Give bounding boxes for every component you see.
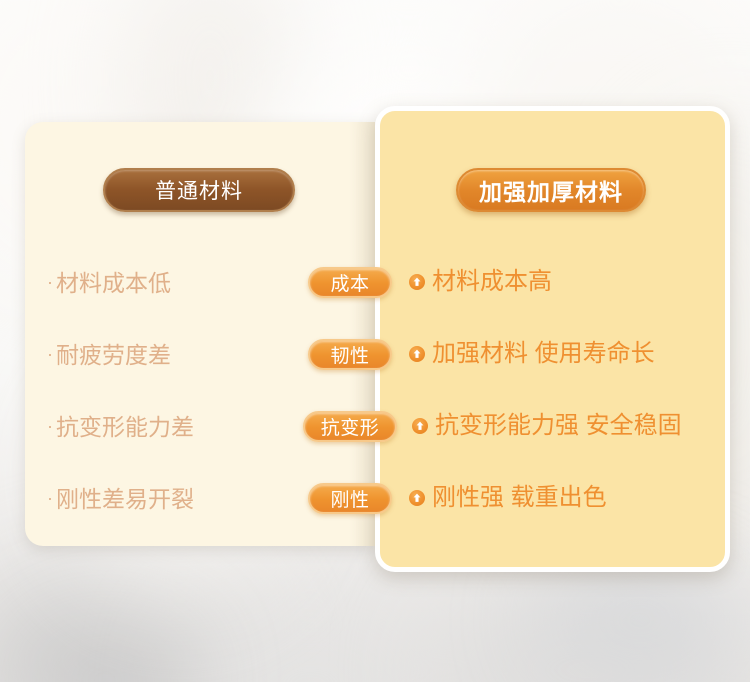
bullet-icon: · bbox=[47, 272, 53, 292]
bullet-icon: · bbox=[47, 416, 53, 436]
comparison-row: ·刚性差易开裂 刚性 刚性强 载重出色 bbox=[0, 478, 750, 518]
arrow-up-circle-icon bbox=[409, 274, 425, 290]
basic-item-text: ·抗变形能力差 bbox=[47, 406, 194, 446]
premium-item-label: 抗变形能力强 安全稳固 bbox=[435, 406, 682, 446]
premium-item-label: 刚性强 载重出色 bbox=[432, 478, 607, 518]
comparison-row: ·抗变形能力差 抗变形 抗变形能力强 安全稳固 bbox=[0, 406, 750, 446]
premium-material-badge: 加强加厚材料 bbox=[456, 168, 646, 212]
basic-item-label: 材料成本低 bbox=[56, 270, 171, 296]
premium-item-label: 材料成本高 bbox=[432, 262, 552, 302]
basic-material-badge: 普通材料 bbox=[103, 168, 295, 212]
comparison-tag-label: 刚性 bbox=[330, 485, 369, 512]
premium-item-label: 加强材料 使用寿命长 bbox=[432, 334, 655, 374]
basic-item-text: ·刚性差易开裂 bbox=[47, 478, 194, 518]
premium-material-badge-label: 加强加厚材料 bbox=[479, 173, 623, 207]
basic-item-text: ·耐疲劳度差 bbox=[47, 334, 171, 374]
comparison-row: ·耐疲劳度差 韧性 加强材料 使用寿命长 bbox=[0, 334, 750, 374]
basic-item-label: 刚性差易开裂 bbox=[56, 486, 194, 512]
comparison-tag-rigidity: 刚性 bbox=[308, 483, 392, 514]
arrow-up-circle-icon bbox=[409, 490, 425, 506]
bullet-icon: · bbox=[47, 488, 53, 508]
comparison-tag-label: 成本 bbox=[330, 269, 369, 296]
comparison-tag-label: 韧性 bbox=[330, 341, 369, 368]
arrow-up-circle-icon bbox=[409, 346, 425, 362]
comparison-tag-toughness: 韧性 bbox=[308, 339, 392, 370]
basic-item-label: 抗变形能力差 bbox=[56, 414, 194, 440]
bullet-icon: · bbox=[47, 344, 53, 364]
basic-item-label: 耐疲劳度差 bbox=[56, 342, 171, 368]
comparison-tag-label: 抗变形 bbox=[321, 413, 380, 440]
comparison-row: ·材料成本低 成本 材料成本高 bbox=[0, 262, 750, 302]
basic-item-text: ·材料成本低 bbox=[47, 262, 171, 302]
comparison-tag-anti-deformation: 抗变形 bbox=[303, 411, 397, 442]
comparison-tag-cost: 成本 bbox=[308, 267, 392, 298]
comparison-stage: 普通材料 加强加厚材料 ·材料成本低 成本 材料成本高 ·耐疲劳度差 韧性 bbox=[0, 0, 750, 682]
basic-material-badge-label: 普通材料 bbox=[155, 175, 243, 205]
arrow-up-circle-icon bbox=[412, 418, 428, 434]
